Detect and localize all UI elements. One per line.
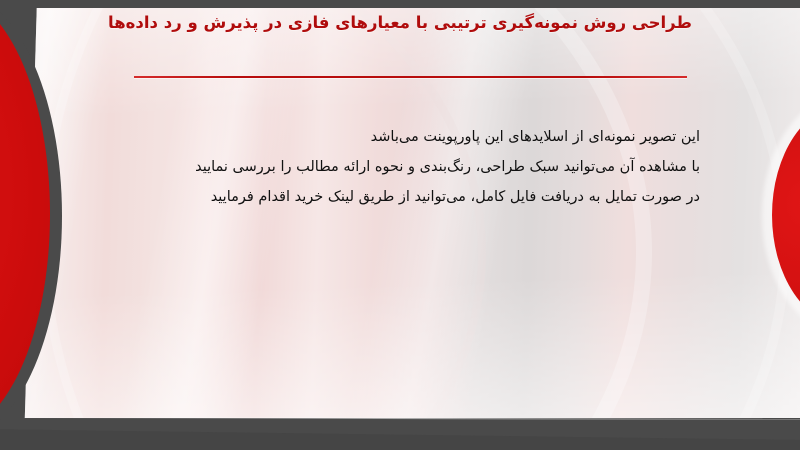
title-divider (134, 76, 687, 78)
body-line-1: این تصویر نمونه‌ای از اسلایدهای این پاور… (140, 122, 700, 152)
slide-content: طراحی روش نمونه‌گیری ترتیبی با معیارهای … (0, 0, 800, 450)
body-line-2: با مشاهده آن می‌توانید سبک طراحی، رنگ‌بن… (140, 152, 700, 182)
slide-body: این تصویر نمونه‌ای از اسلایدهای این پاور… (140, 122, 700, 212)
page-title: طراحی روش نمونه‌گیری ترتیبی با معیارهای … (100, 10, 700, 37)
body-line-3: در صورت تمایل به دریافت فایل کامل، می‌تو… (140, 182, 700, 212)
slide-canvas: طراحی روش نمونه‌گیری ترتیبی با معیارهای … (0, 0, 800, 450)
